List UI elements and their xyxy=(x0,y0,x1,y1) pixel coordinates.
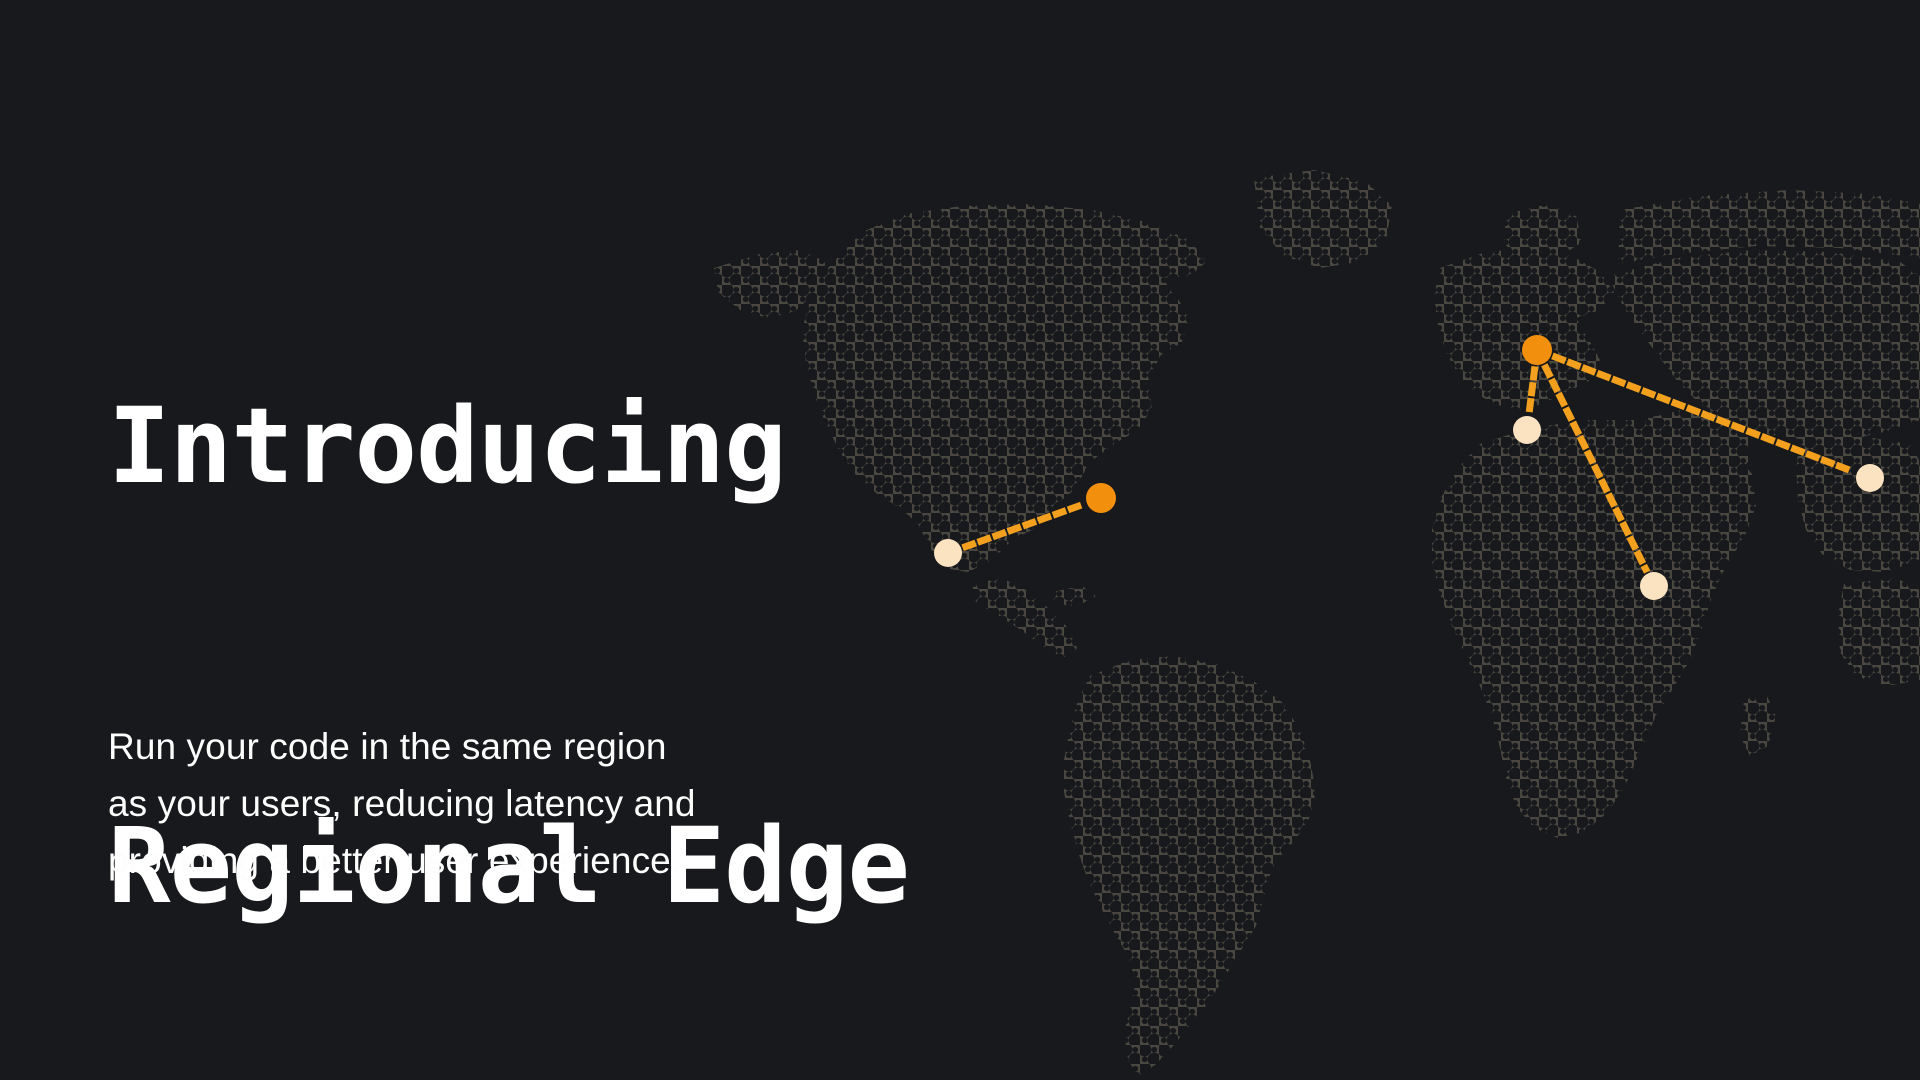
hero-stage: Introducing Regional Edge Functions Run … xyxy=(0,0,1920,1080)
network-markers: us-eastus-westeu-centraleu-westap-southa… xyxy=(934,335,1884,600)
network-link-eu-central-to-af-north xyxy=(1546,368,1646,569)
edge-region-marker-us-west[interactable]: us-west xyxy=(934,539,962,567)
edge-network-svg: us-eastus-westeu-centraleu-westap-southa… xyxy=(0,0,1920,1080)
network-link-eu-central-to-ap-south xyxy=(1556,357,1853,471)
network-links xyxy=(966,357,1852,569)
network-link-eu-central-to-eu-west xyxy=(1529,370,1534,411)
network-link-us-west-to-us-east xyxy=(966,505,1082,547)
edge-region-marker-eu-central[interactable]: eu-central xyxy=(1522,335,1552,365)
edge-region-marker-us-east[interactable]: us-east xyxy=(1086,483,1116,513)
edge-network-overlay: us-eastus-westeu-centraleu-westap-southa… xyxy=(0,0,1920,1080)
edge-region-marker-af-north[interactable]: af-north xyxy=(1640,572,1668,600)
edge-region-marker-ap-south[interactable]: ap-south xyxy=(1856,464,1884,492)
edge-region-marker-eu-west[interactable]: eu-west xyxy=(1513,416,1541,444)
